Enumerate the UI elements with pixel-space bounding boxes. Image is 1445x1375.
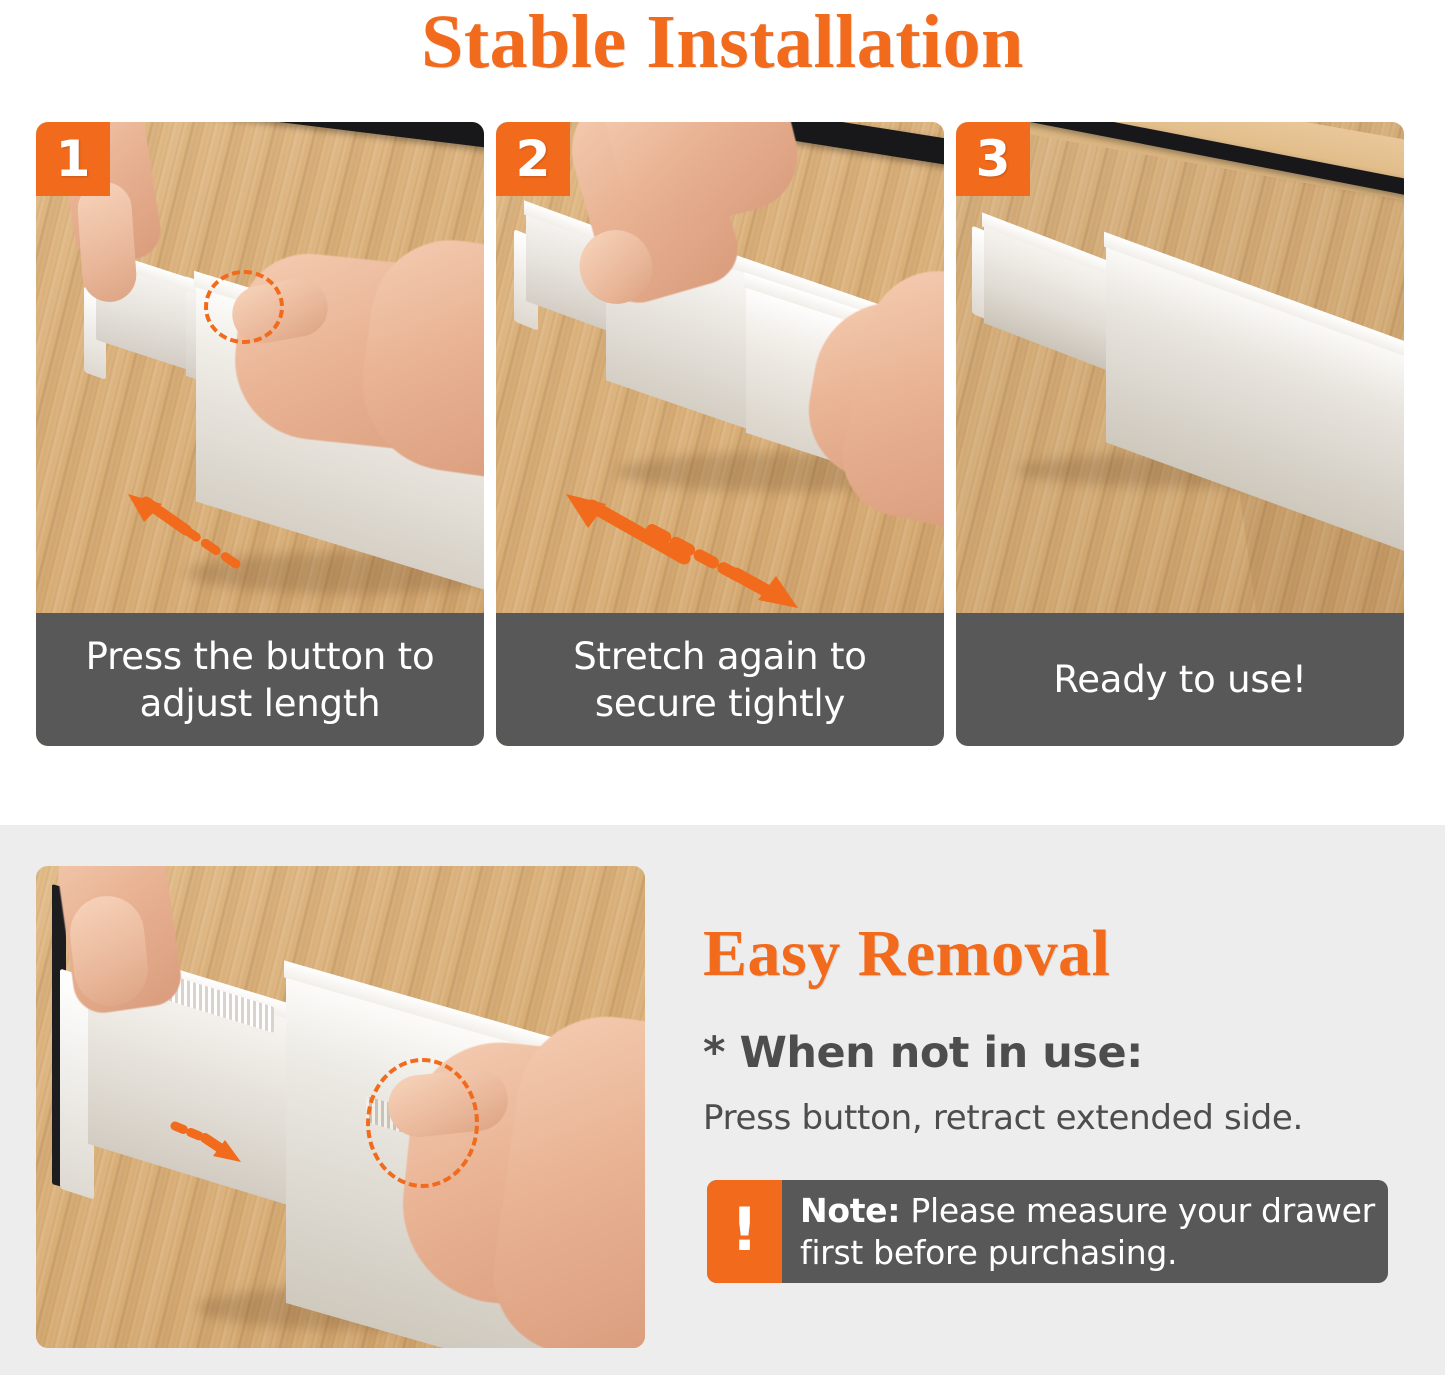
- dashed-arrow-right-icon: [171, 1116, 251, 1176]
- easy-removal-photo: [36, 866, 645, 1348]
- easy-removal-subtitle: * When not in use:: [703, 1028, 1143, 1078]
- easy-removal-body: Press button, retract extended side.: [703, 1098, 1303, 1138]
- note-callout: ! Note: Please measure your drawer first…: [707, 1180, 1388, 1283]
- step-2-caption: Stretch again to secure tightly: [496, 613, 944, 746]
- step-number-badge: 1: [36, 122, 110, 196]
- dashed-arrow-left-icon: [116, 492, 246, 572]
- exclamation-icon: !: [707, 1180, 782, 1283]
- note-label: Note:: [800, 1191, 900, 1230]
- stable-installation-section: Stable Installation: [0, 0, 1445, 825]
- step-card-2: 2 Stretch again to secure tightly: [496, 122, 944, 746]
- dashed-arrow-down-right-icon: [646, 522, 816, 612]
- step-1-caption: Press the button to adjust length: [36, 613, 484, 746]
- page-title: Stable Installation: [0, 0, 1445, 88]
- step-number-badge: 3: [956, 122, 1030, 196]
- step-3-caption: Ready to use!: [956, 613, 1404, 746]
- step-number-badge: 2: [496, 122, 570, 196]
- easy-removal-title: Easy Removal: [703, 916, 1110, 992]
- step-card-3: 3 Ready to use!: [956, 122, 1404, 746]
- finger-pressing-top: [76, 180, 138, 303]
- dashed-circle-highlight-icon: [204, 270, 284, 344]
- dashed-circle-highlight-icon: [366, 1058, 479, 1188]
- note-text: Note: Please measure your drawer first b…: [782, 1180, 1388, 1283]
- step-card-1: 1 Press the button to adjust length: [36, 122, 484, 746]
